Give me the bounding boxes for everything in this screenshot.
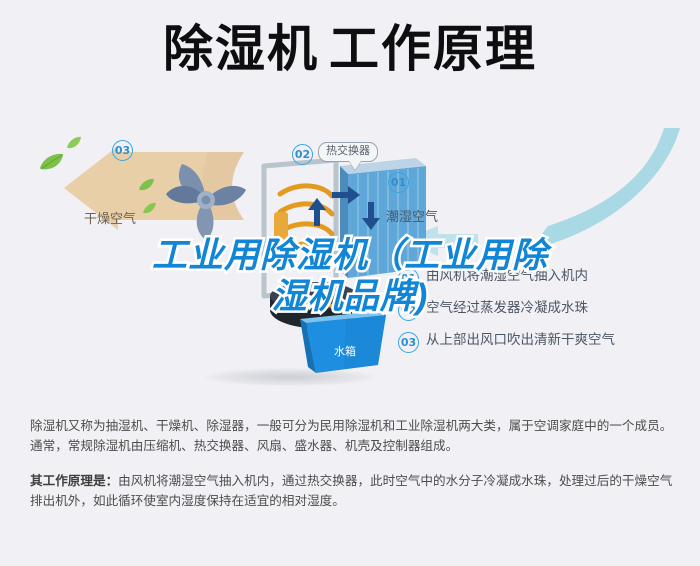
page-title: 除湿机工作原理	[0, 24, 700, 74]
humid-air-label: 潮湿空气	[386, 206, 438, 225]
page-title-part1: 除湿机	[163, 21, 319, 77]
page-title-part2: 工作原理	[329, 21, 537, 77]
paragraph-2: 其工作原理是：由风机将潮湿空气抽入机内，通过热交换器，此时空气中的水分子冷凝成水…	[30, 471, 678, 512]
dry-air-label: 干燥空气	[84, 208, 136, 227]
floor-shadow	[205, 368, 375, 386]
callout-tail-icon	[349, 161, 361, 170]
humid-air-badge: 01	[388, 172, 409, 193]
leaf-icon	[66, 136, 82, 150]
legend-badge: 01	[398, 268, 419, 289]
heat-exchanger-badge: 02	[292, 144, 313, 165]
paragraph-1-line-1: 除湿机又称为抽湿机、干燥机、除湿器，一般可分为民用除湿机和工业除湿机两大类，属于…	[30, 419, 672, 433]
paragraph-1: 除湿机又称为抽湿机、干燥机、除湿器，一般可分为民用除湿机和工业除湿机两大类，属于…	[30, 416, 678, 457]
paragraph-2-lead: 其工作原理是：	[30, 474, 118, 488]
paragraph-1-line-2: 通常，常规除湿机由压缩机、热交换器、风扇、盛水器、机壳及控制器组成。	[30, 439, 458, 453]
legend-text: 从上部出风口吹出清新干爽空气	[426, 332, 615, 349]
dehumidifier-diagram: 水箱 03 干燥空气 02 热交换器 01 潮湿空气 01 由风机将潮湿空气抽入…	[0, 118, 700, 396]
legend-text: 空气经过蒸发器冷凝成水珠	[426, 300, 588, 317]
infographic-page: 除湿机工作原理	[0, 0, 700, 566]
legend-badge: 02	[398, 300, 419, 321]
body-copy: 除湿机又称为抽湿机、干燥机、除湿器，一般可分为民用除湿机和工业除湿机两大类，属于…	[30, 416, 678, 512]
legend-text: 由风机将潮湿空气抽入机内	[426, 268, 588, 285]
legend-item: 03 从上部出风口吹出清新干爽空气	[398, 332, 688, 353]
water-tank-label: 水箱	[334, 343, 356, 359]
leaf-icon	[138, 178, 155, 192]
legend-list: 01 由风机将潮湿空气抽入机内 02 空气经过蒸发器冷凝成水珠 03 从上部出风…	[398, 268, 688, 364]
legend-item: 02 空气经过蒸发器冷凝成水珠	[398, 300, 688, 321]
humid-air-arrow-icon	[398, 126, 688, 258]
legend-item: 01 由风机将潮湿空气抽入机内	[398, 268, 688, 289]
leaf-icon	[38, 152, 64, 172]
heat-exchanger-callout: 热交换器	[318, 142, 378, 162]
paragraph-2-line-1: 由风机将潮湿空气抽入机内，通过热交换器，此时空气中的水分子冷凝成水珠，处理过后的…	[118, 474, 672, 488]
paragraph-2-line-2: 排出机外，如此循环使室内湿度保持在适宜的相对湿度。	[30, 494, 345, 508]
leaf-icon	[142, 202, 157, 215]
legend-badge: 03	[398, 332, 419, 353]
dry-air-badge: 03	[112, 140, 133, 161]
